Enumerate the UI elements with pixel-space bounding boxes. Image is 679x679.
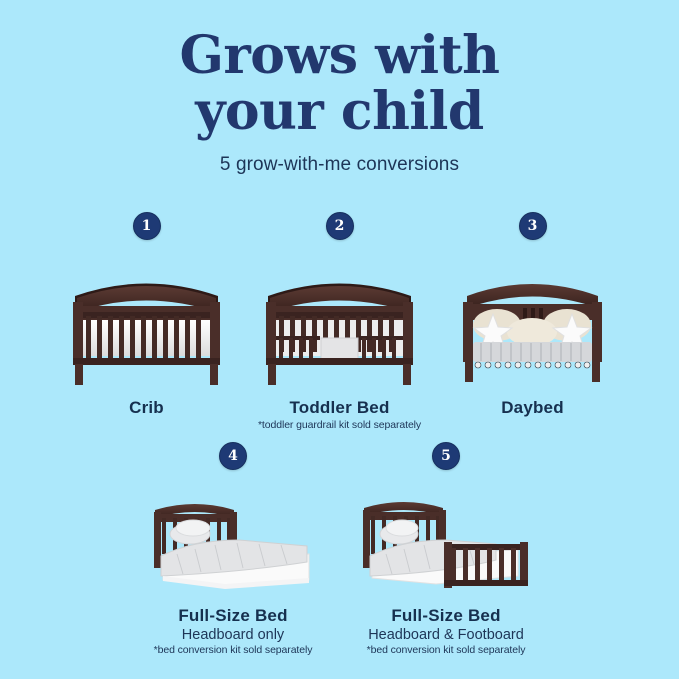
daybed-illustration [436,250,629,390]
infographic-root: Grows with your child 5 grow-with-me con… [0,0,679,679]
conversion-item-full-size-headboard-footboard: 5 [340,442,553,656]
crib-label-group: Crib [50,398,243,418]
conversion-item-toddler-bed: 2 [243,212,436,431]
page-subtitle: 5 grow-with-me conversions [0,154,679,176]
conversions-row-top: 1 [0,212,679,431]
conversion-label: Crib [50,398,243,418]
toddler-bed-illustration [243,250,436,390]
toddler-bed-label-group: Toddler Bed *toddler guardrail kit sold … [243,398,436,431]
conversion-label: Toddler Bed [243,398,436,418]
header: Grows with your child 5 grow-with-me con… [0,28,679,176]
conversion-note: *toddler guardrail kit sold separately [243,419,436,431]
conversion-label: Daybed [436,398,629,418]
conversion-note: *bed conversion kit sold separately [127,644,340,656]
conversion-sublabel: Headboard only [127,627,340,643]
conversion-sublabel: Headboard & Footboard [340,627,553,643]
conversion-label: Full-Size Bed [340,606,553,626]
conversion-item-daybed: 3 [436,212,629,431]
daybed-label-group: Daybed [436,398,629,418]
full-size-bed-headboard-footboard-illustration [340,484,553,596]
conversion-note: *bed conversion kit sold separately [340,644,553,656]
step-badge-5: 5 [432,442,460,470]
page-title-line1: Grows with [0,28,679,84]
step-badge-3: 3 [519,212,547,240]
step-badge-4: 4 [219,442,247,470]
page-title-line2: your child [0,84,679,140]
full-size-headboard-label-group: Full-Size Bed Headboard only *bed conver… [127,606,340,656]
full-size-bed-headboard-illustration [127,484,340,596]
conversions-row-bottom: 4 [0,442,679,656]
crib-illustration [50,250,243,390]
conversion-item-full-size-headboard: 4 [127,442,340,656]
full-size-headboard-footboard-label-group: Full-Size Bed Headboard & Footboard *bed… [340,606,553,656]
conversion-item-crib: 1 [50,212,243,431]
step-badge-2: 2 [326,212,354,240]
conversion-label: Full-Size Bed [127,606,340,626]
step-badge-1: 1 [133,212,161,240]
